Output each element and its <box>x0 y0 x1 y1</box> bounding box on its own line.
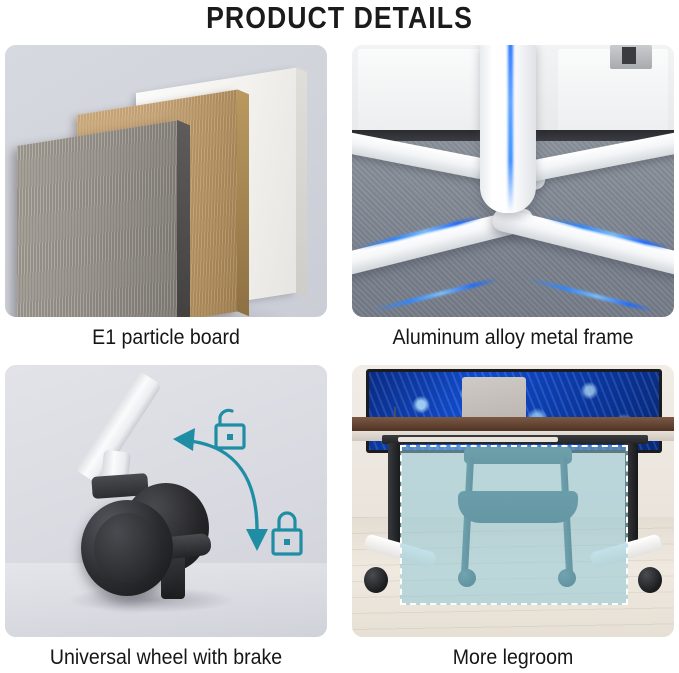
detail-card-universal-wheel[interactable]: Universal wheel with brake <box>5 365 327 672</box>
caption-metal-frame: Aluminum alloy metal frame <box>363 324 662 352</box>
legroom-highlight-area <box>400 445 628 605</box>
caption-more-legroom: More legroom <box>363 644 662 672</box>
unlock-icon <box>216 410 244 448</box>
toggle-arrow-head-up <box>173 428 195 451</box>
detail-card-metal-frame[interactable]: Aluminum alloy metal frame <box>352 45 674 352</box>
board-oak-edge <box>237 89 249 316</box>
caption-particle-board: E1 particle board <box>16 324 315 352</box>
desk-caster-right <box>638 567 662 593</box>
particle-board-image <box>5 45 327 317</box>
detail-card-more-legroom[interactable]: More legroom <box>352 365 674 672</box>
board-white-edge <box>296 67 307 297</box>
lock-icon <box>273 513 301 554</box>
details-grid: E1 particle board Aluminum alloy metal f… <box>5 45 674 670</box>
universal-wheel-image <box>5 365 327 637</box>
desk-beam-highlight <box>398 437 558 442</box>
desk-top <box>352 417 674 431</box>
metal-frame-image <box>352 45 674 317</box>
blue-glow-column <box>508 45 513 213</box>
board-grey-edge <box>177 120 190 317</box>
caption-universal-wheel: Universal wheel with brake <box>16 644 315 672</box>
desk-caster-left <box>364 567 388 593</box>
cable-port <box>610 45 652 69</box>
detail-card-particle-board[interactable]: E1 particle board <box>5 45 327 352</box>
page-title: PRODUCT DETAILS <box>48 1 632 35</box>
board-grey <box>17 121 177 317</box>
more-legroom-image <box>352 365 674 637</box>
toggle-arrow-head-down <box>246 529 268 551</box>
lock-indicator-group <box>5 365 327 637</box>
toggle-arrow-icon <box>190 441 257 530</box>
